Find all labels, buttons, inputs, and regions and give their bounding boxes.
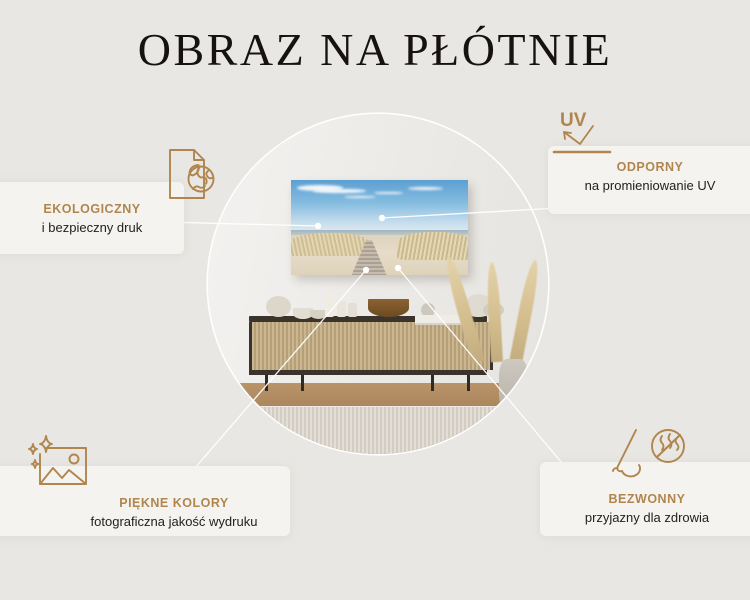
product-scene-circle (208, 114, 548, 454)
artwork-dune-left (291, 233, 369, 257)
sideboard-furniture (249, 316, 487, 379)
artwork-dune-right (397, 232, 468, 261)
uv-ray-reflection-icon: UV (548, 106, 620, 162)
room-interior-image (208, 114, 548, 454)
feature-subtitle-eco: i bezpieczny druk (0, 220, 184, 235)
artwork-sky (291, 180, 468, 231)
decor-candle-1 (325, 294, 334, 317)
feature-title-uv: ODPORNY (548, 160, 750, 174)
feature-subtitle-odor: przyjazny dla zdrowia (540, 510, 750, 525)
photo-sparkle-icon (24, 434, 96, 490)
floor-vase (499, 359, 528, 417)
feature-subtitle-colors: fotograficzna jakość wydruku (0, 514, 290, 529)
feature-card-eco[interactable]: EKOLOGICZNY i bezpieczny druk (0, 182, 184, 254)
pampas-grass (466, 253, 534, 362)
nose-no-smell-icon (608, 424, 692, 484)
uv-icon-label: UV (560, 110, 587, 131)
infographic-stage: OBRAZ NA PŁÓTNIE (0, 0, 750, 600)
eco-document-globe-leaf-icon (160, 145, 220, 203)
feature-title-colors: PIĘKNE KOLORY (0, 496, 290, 510)
decor-candle-3 (348, 303, 357, 317)
decor-wooden-bowl (368, 299, 409, 317)
feature-title-eco: EKOLOGICZNY (0, 202, 184, 216)
feature-subtitle-uv: na promieniowanie UV (548, 178, 750, 193)
area-rug (208, 406, 548, 454)
decor-books (415, 315, 463, 325)
feature-title-odor: BEZWONNY (540, 492, 750, 506)
decor-candle-2 (337, 301, 346, 317)
page-title: OBRAZ NA PŁÓTNIE (0, 25, 750, 76)
canvas-print-artwork (291, 180, 468, 275)
